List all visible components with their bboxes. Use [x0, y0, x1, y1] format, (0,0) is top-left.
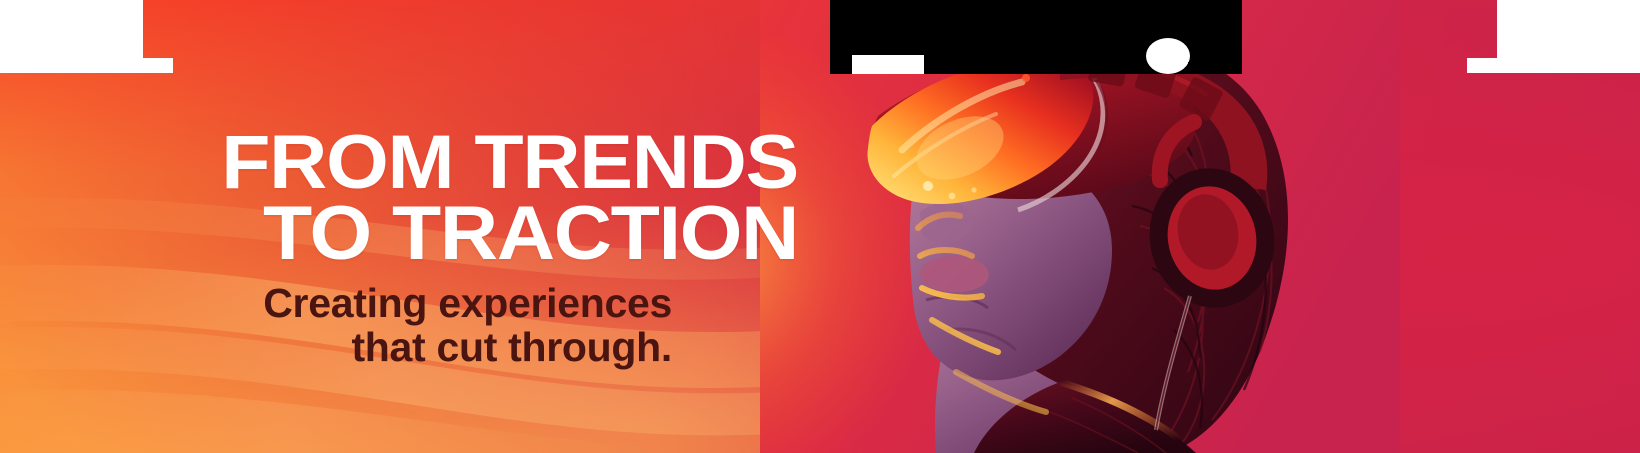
banner-copy: FROM TRENDS TO TRACTION Creating experie…	[0, 0, 820, 453]
banner-headline: FROM TRENDS TO TRACTION	[0, 128, 798, 269]
photo-top-white-notch	[852, 55, 924, 74]
hero-banner: FROM TRENDS TO TRACTION Creating experie…	[0, 0, 1640, 453]
banner-subheadline: Creating experiences that cut through.	[0, 281, 672, 370]
photo-top-white-dot	[1146, 38, 1190, 74]
photo-top-black-sliver	[1188, 62, 1242, 74]
